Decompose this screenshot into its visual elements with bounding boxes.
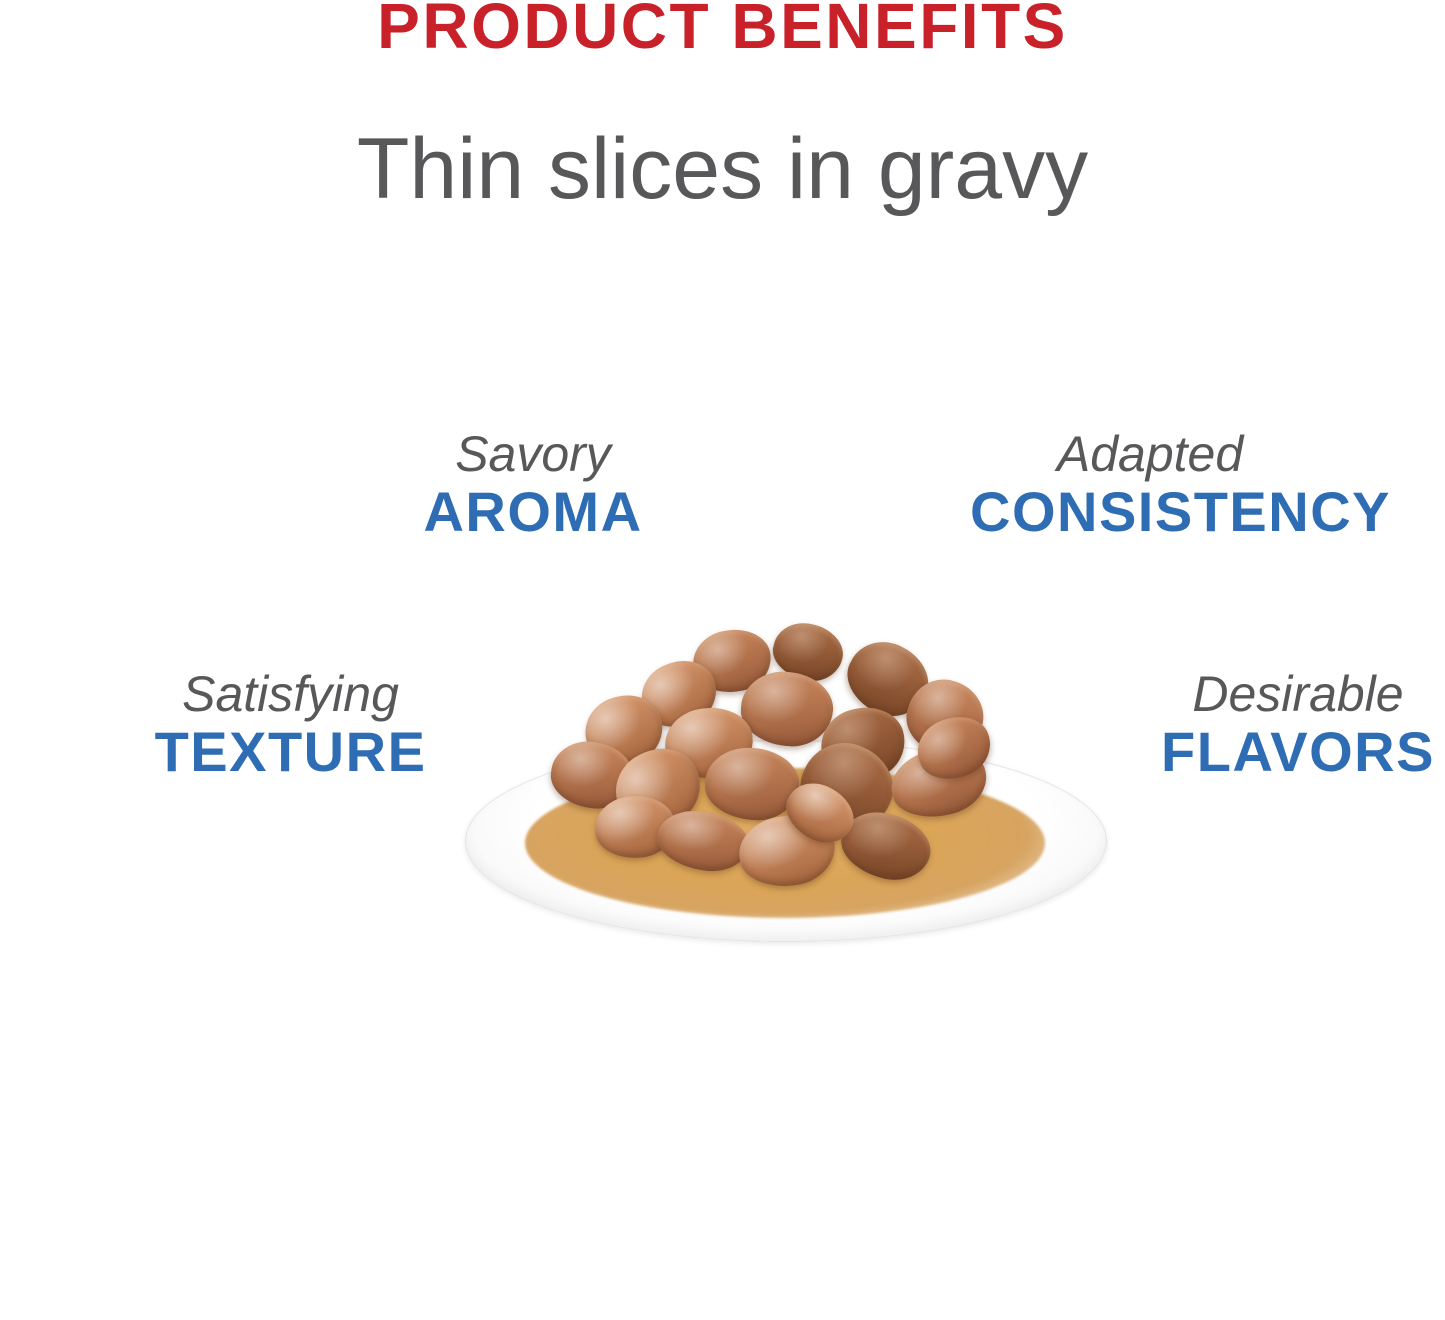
benefit-aroma-lead: Savory — [421, 428, 645, 481]
benefit-texture: Satisfying TEXTURE — [142, 668, 439, 783]
meat-slices-group — [455, 600, 1115, 950]
page-eyebrow: PRODUCT BENEFITS — [0, 0, 1445, 58]
footer-brand-bar — [0, 1240, 1445, 1320]
benefit-aroma-key: AROMA — [421, 481, 645, 544]
product-benefits-panel: PRODUCT BENEFITS Thin slices in gravy Sa… — [0, 0, 1445, 1320]
benefit-aroma: Savory AROMA — [421, 428, 645, 543]
benefit-flavors-key: FLAVORS — [1150, 721, 1445, 784]
benefit-flavors-lead: Desirable — [1150, 668, 1445, 721]
benefit-consistency: Adapted CONSISTENCY — [970, 428, 1330, 543]
product-image — [455, 600, 1115, 950]
benefit-flavors: Desirable FLAVORS — [1150, 668, 1445, 783]
benefit-consistency-lead: Adapted — [970, 428, 1330, 481]
benefit-texture-lead: Satisfying — [142, 668, 439, 721]
benefit-consistency-key: CONSISTENCY — [970, 481, 1330, 544]
benefit-texture-key: TEXTURE — [142, 721, 439, 784]
page-title: Thin slices in gravy — [0, 126, 1445, 212]
